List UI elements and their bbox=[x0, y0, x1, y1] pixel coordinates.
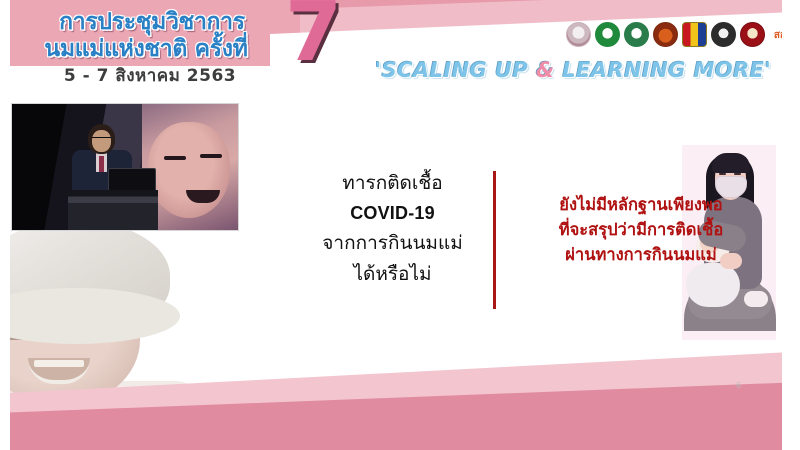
question-line-3: จากการกินนมแม่ bbox=[300, 228, 485, 259]
lecture-podium bbox=[68, 190, 158, 230]
ministry-public-health-logo bbox=[595, 22, 620, 47]
question-line-4: ได้หรือไม่ bbox=[300, 259, 485, 290]
tagline-ampersand: & bbox=[536, 58, 555, 82]
slide-number: 6 bbox=[736, 381, 741, 390]
speaker-glasses bbox=[92, 137, 111, 142]
projected-baby-face bbox=[148, 122, 230, 218]
sponsor-logo-strip: สสส bbox=[566, 22, 797, 47]
answer-line-2: ที่จะสรุปว่ามีการติดเชื้อ bbox=[498, 217, 784, 242]
conference-date: 5 - 7 สิงหาคม 2563 bbox=[20, 62, 280, 89]
slide-header-banner: 7 การประชุมวิชาการ นมแม่แห่งชาติ ครั้งที… bbox=[0, 0, 800, 97]
answer-line-1: ยังไม่มีหลักฐานเพียงพอ bbox=[498, 192, 784, 217]
slide-left-margin bbox=[0, 0, 10, 450]
speaker-tie bbox=[99, 156, 104, 172]
baby-blanket bbox=[686, 263, 740, 307]
red-vertical-divider bbox=[493, 171, 496, 309]
conference-speaker-photo bbox=[11, 103, 239, 231]
presentation-slide: 7 การประชุมวิชาการ นมแม่แห่งชาติ ครั้งที… bbox=[0, 0, 800, 450]
department-health-logo bbox=[624, 22, 649, 47]
mother-eye-left bbox=[719, 173, 726, 175]
footer-pink-base bbox=[0, 438, 800, 450]
tagline-post-text: LEARNING MORE' bbox=[555, 58, 772, 82]
royal-college-logo bbox=[682, 22, 707, 47]
nursing-council-logo bbox=[711, 22, 736, 47]
conference-edition-number: 7 bbox=[285, 0, 342, 74]
mother-eye-right bbox=[734, 173, 741, 175]
conference-tagline: 'SCALING UP & LEARNING MORE' bbox=[358, 58, 788, 82]
mother-hair-front bbox=[712, 153, 750, 173]
baby-teeth bbox=[34, 360, 84, 367]
medical-council-logo bbox=[740, 22, 765, 47]
mother-foot bbox=[744, 291, 768, 307]
question-line-1: ทารกติดเชื้อ bbox=[300, 168, 485, 199]
question-text-block: ทารกติดเชื้อ COVID-19 จากการกินนมแม่ ได้… bbox=[300, 168, 485, 289]
projected-baby-eye-right bbox=[200, 154, 222, 158]
slide-right-margin bbox=[782, 0, 800, 450]
royal-emblem-logo bbox=[653, 22, 678, 47]
projected-baby-eye-left bbox=[164, 156, 186, 160]
thai-breastfeeding-foundation-logo bbox=[566, 22, 591, 47]
question-line-2: COVID-19 bbox=[300, 199, 485, 228]
answer-text-block: ยังไม่มีหลักฐานเพียงพอ ที่จะสรุปว่ามีการ… bbox=[498, 192, 784, 267]
baby-hat-brim bbox=[0, 288, 180, 344]
tagline-pre-text: 'SCALING UP bbox=[375, 58, 536, 82]
answer-line-3: ผ่านทางการกินนมแม่ bbox=[498, 242, 784, 267]
